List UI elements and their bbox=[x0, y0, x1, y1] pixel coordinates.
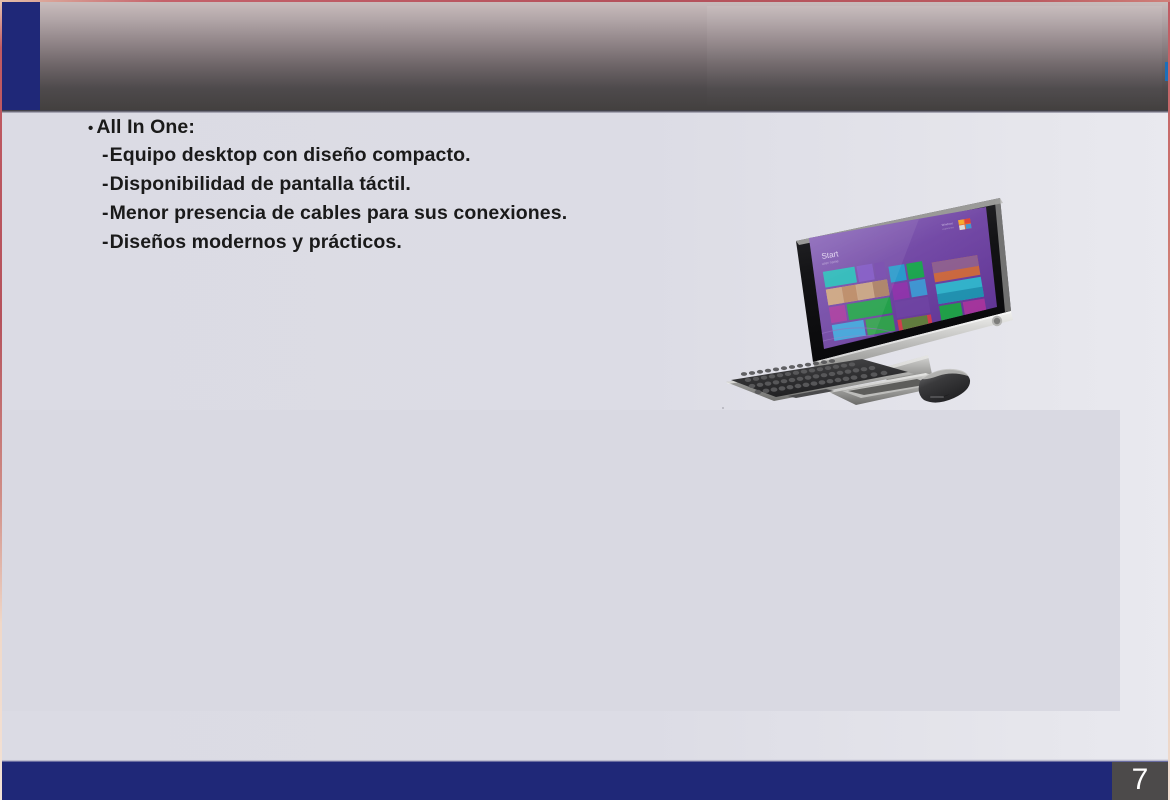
list-item-label: Menor presencia de cables para sus conex… bbox=[110, 199, 568, 228]
dash-marker-icon: - bbox=[102, 199, 109, 228]
all-in-one-computer-image: Start user name Windows experience bbox=[714, 186, 1024, 414]
list-item: - Equipo desktop con diseño compacto. bbox=[102, 141, 708, 170]
list-item-label: Equipo desktop con diseño compacto. bbox=[110, 141, 471, 170]
slide-header-bar bbox=[0, 2, 1170, 110]
header-blue-accent-block bbox=[2, 2, 40, 113]
slide-left-border bbox=[0, 0, 2, 800]
dash-marker-icon: - bbox=[102, 228, 109, 257]
presentation-slide: • All In One: - Equipo desktop con diseñ… bbox=[0, 0, 1170, 800]
list-item: • All In One: bbox=[88, 113, 708, 141]
slide-footer-bar bbox=[2, 762, 1168, 800]
bullet-list: • All In One: - Equipo desktop con diseñ… bbox=[88, 113, 708, 257]
list-item: - Menor presencia de cables para sus con… bbox=[102, 199, 708, 228]
content-placeholder-box bbox=[2, 410, 1120, 711]
header-right-panel bbox=[707, 6, 1162, 110]
bullet-marker-icon: • bbox=[88, 121, 93, 136]
page-number-badge: 7 bbox=[1112, 762, 1168, 800]
dash-marker-icon: - bbox=[102, 170, 109, 199]
list-item: - Diseños modernos y prácticos. bbox=[102, 228, 708, 257]
dash-marker-icon: - bbox=[102, 141, 109, 170]
list-item-label: Diseños modernos y prácticos. bbox=[110, 228, 402, 257]
list-item-label: All In One: bbox=[96, 113, 195, 141]
list-item-label: Disponibilidad de pantalla táctil. bbox=[110, 170, 411, 199]
slide-top-border bbox=[0, 0, 1170, 2]
image-artifact-dot bbox=[722, 407, 724, 409]
list-item: - Disponibilidad de pantalla táctil. bbox=[102, 170, 708, 199]
page-number: 7 bbox=[1132, 765, 1149, 797]
